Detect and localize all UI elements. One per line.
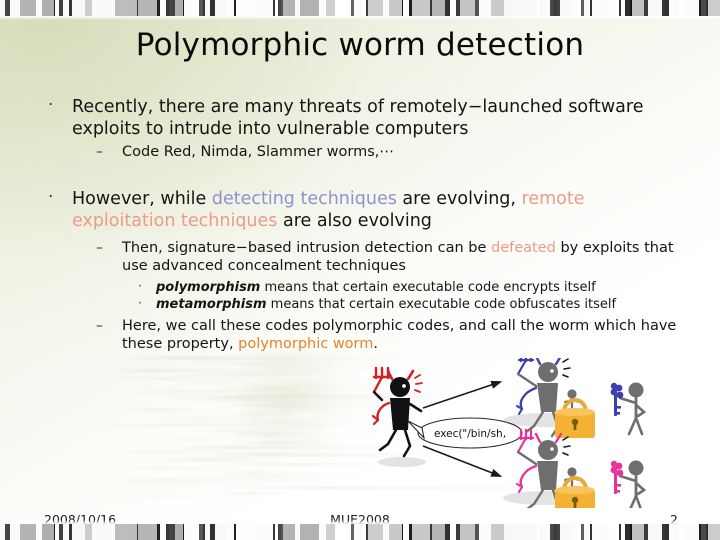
bullet-marker-dot: · bbox=[48, 186, 53, 208]
barcode-strip-top bbox=[0, 0, 720, 16]
slide-canvas: Polymorphic worm detection · Recently, t… bbox=[0, 0, 720, 540]
anger-marks bbox=[563, 437, 570, 455]
bullet-marker-dash: – bbox=[96, 143, 103, 162]
bullet-text-segment: Then, signature−based intrusion detectio… bbox=[122, 240, 491, 256]
bullet-text-segment: Here, we call these codes polymorphic co… bbox=[122, 318, 676, 353]
page-title: Polymorphic worm detection bbox=[0, 27, 720, 63]
gray-devil-head bbox=[538, 362, 558, 382]
devil-head bbox=[390, 377, 410, 397]
bullet-text-segment: . bbox=[373, 336, 378, 352]
anger-marks bbox=[563, 359, 570, 377]
black-devil-attacker bbox=[373, 368, 422, 456]
bullet-marker-dot: · bbox=[138, 295, 142, 313]
arrow-to-top-target bbox=[423, 382, 500, 408]
bullet-text-line2: exploits to intrude into vulnerable comp… bbox=[72, 119, 469, 139]
key-holder-figure bbox=[620, 383, 644, 435]
bullet-level1-evolving: · However, while detecting techniques ar… bbox=[44, 188, 674, 232]
highlight-polymorphic-worm: polymorphic worm bbox=[238, 336, 373, 352]
bullet-marker-dash: – bbox=[96, 239, 103, 258]
devil-body bbox=[390, 398, 410, 430]
bullet-text: means that certain executable code obfus… bbox=[267, 297, 617, 312]
bullet-text: Code Red, Nimda, Slammer worms,⋯ bbox=[122, 144, 394, 160]
shadow-attacker bbox=[378, 457, 426, 467]
bullet-level1-threats: · Recently, there are many threats of re… bbox=[44, 96, 674, 140]
devil-tail bbox=[377, 403, 389, 420]
highlight-defeated: defeated bbox=[491, 240, 556, 256]
gray-devil-body bbox=[537, 383, 558, 412]
bullet-level3-polymorphism: · polymorphism means that certain execut… bbox=[136, 279, 696, 297]
watermark-blob bbox=[240, 352, 360, 472]
term-metamorphism: metamorphism bbox=[156, 297, 267, 312]
bullet-marker-dot: · bbox=[138, 278, 142, 296]
magenta-tail bbox=[521, 466, 536, 487]
blue-pitchfork-icon bbox=[518, 358, 533, 374]
arrow-to-bottom-target bbox=[423, 446, 500, 476]
barcode-top-fade bbox=[0, 16, 720, 20]
bullet-marker-dot: · bbox=[48, 94, 53, 116]
callout-text: exec("/bin/sh, bbox=[434, 428, 506, 440]
exec-callout-bubble: exec("/bin/sh, bbox=[408, 418, 522, 448]
gray-devil-body bbox=[537, 461, 558, 490]
blue-tail bbox=[521, 388, 536, 409]
bullet-level2-worm-examples: – Code Red, Nimda, Slammer worms,⋯ bbox=[96, 143, 696, 162]
bullet-text: means that certain executable code encry… bbox=[260, 280, 595, 295]
slide-body: · Recently, there are many threats of re… bbox=[0, 96, 720, 354]
bullet-level2-polymorphic-worm: – Here, we call these codes polymorphic … bbox=[96, 317, 696, 354]
barcode-strip-bottom bbox=[0, 524, 720, 540]
highlight-detecting-techniques: detecting techniques bbox=[212, 189, 397, 209]
magenta-pitchfork-icon bbox=[518, 430, 533, 452]
padlock-icon bbox=[555, 400, 595, 438]
bullet-level2-signature-defeated: – Then, signature−based intrusion detect… bbox=[96, 239, 696, 276]
bullet-marker-dash: – bbox=[96, 317, 103, 336]
devil-legs bbox=[380, 430, 410, 456]
gray-devil-head bbox=[538, 440, 558, 460]
bullet-text-segment: are evolving, bbox=[397, 189, 522, 209]
attack-illustration: exec("/bin/sh, bbox=[360, 358, 720, 508]
term-polymorphism: polymorphism bbox=[156, 280, 260, 295]
bullet-text-segment: However, while bbox=[72, 189, 212, 209]
bullet-level3-metamorphism: · metamorphism means that certain execut… bbox=[136, 296, 696, 314]
anger-marks bbox=[415, 375, 422, 392]
bullet-text-line1: Recently, there are many threats of remo… bbox=[72, 97, 643, 117]
bullet-text-segment: are also evolving bbox=[277, 211, 432, 231]
